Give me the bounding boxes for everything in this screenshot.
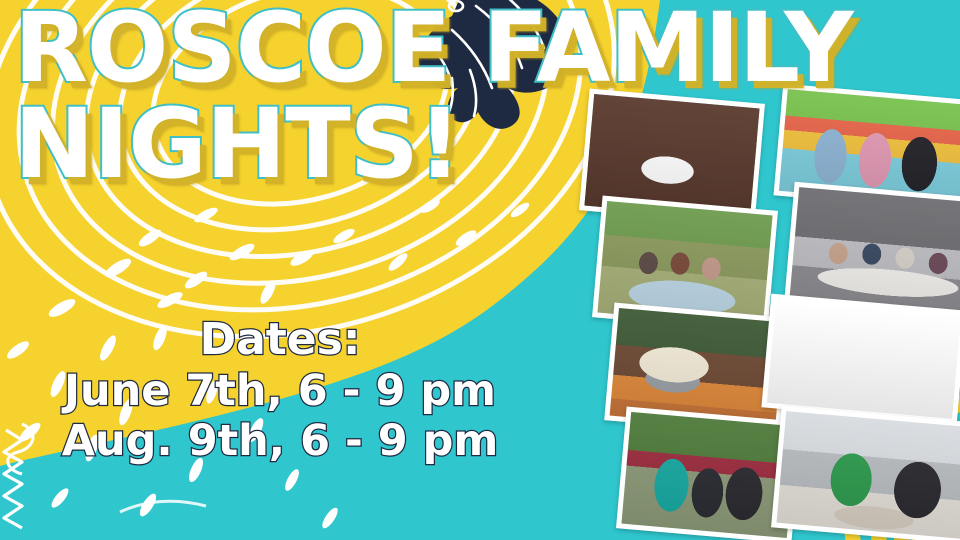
- promo-poster: ROSCOE FAMILY NIGHTS! Dates: June 7th, 6…: [0, 0, 960, 540]
- photo-kids-balloon-tent: [761, 294, 960, 425]
- photo-collage: [0, 0, 960, 540]
- photo-image: [767, 299, 960, 419]
- photo-image: [789, 187, 960, 315]
- photo-food-serving: [771, 406, 960, 540]
- photo-image: [621, 412, 796, 538]
- photo-image: [776, 411, 960, 539]
